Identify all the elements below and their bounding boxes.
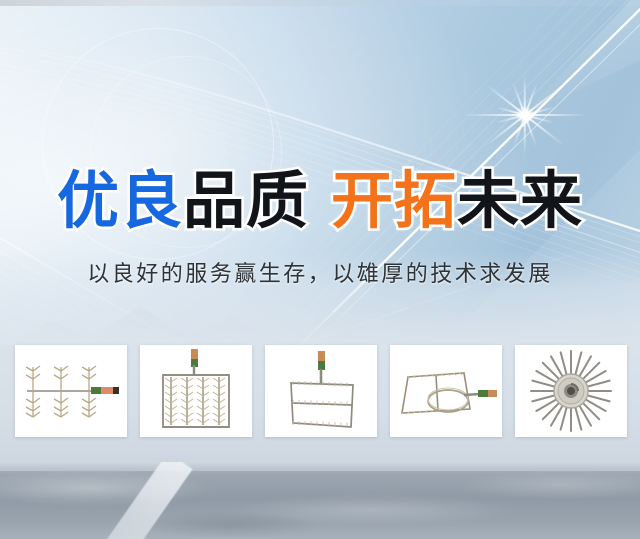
- ground-marking-stripe: [96, 462, 192, 539]
- headline-segment-4: 未来: [457, 164, 583, 237]
- plating-rack-radial-icon: [528, 348, 614, 434]
- plating-rack-frame-icon: [279, 349, 363, 433]
- hero-banner: 优良品质开拓未来 以良好的服务赢生存，以雄厚的技术求发展: [0, 0, 640, 539]
- plating-rack-ring-icon: [394, 355, 498, 427]
- subtitle: 以良好的服务赢生存，以雄厚的技术求发展: [0, 258, 640, 292]
- product-card[interactable]: [15, 345, 127, 437]
- product-card[interactable]: [515, 345, 627, 437]
- product-card[interactable]: [140, 345, 252, 437]
- headline-segment-2: 品质: [183, 164, 309, 237]
- product-card[interactable]: [390, 345, 502, 437]
- product-card-strip: [15, 345, 627, 437]
- headline-segment-1: 优良: [57, 164, 183, 237]
- ground-kerb-edge: [0, 462, 640, 471]
- plating-rack-comb-icon: [19, 351, 123, 431]
- pavement-ground: [0, 462, 640, 539]
- headline-segment-3: 开拓: [331, 164, 457, 237]
- headline: 优良品质开拓未来: [0, 166, 640, 236]
- plating-rack-double-row-icon: [153, 349, 239, 433]
- product-card[interactable]: [265, 345, 377, 437]
